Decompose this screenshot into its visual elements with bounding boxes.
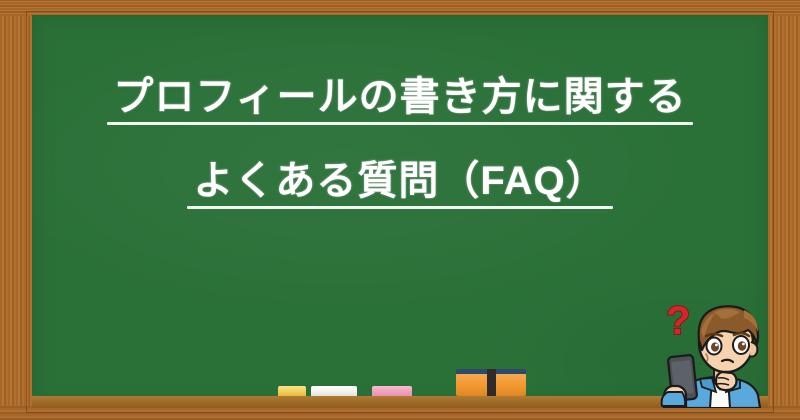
title-line-1-row: プロフィールの書き方に関する [32, 77, 768, 129]
yellow-chalk-icon [278, 386, 306, 396]
frame-top-wood-grain [0, 0, 800, 16]
title-line-2-text: よくある質問（FAQ） [193, 159, 606, 203]
chalkboard-surface: プロフィールの書き方に関する よくある質問（FAQ） ? [32, 15, 768, 408]
pink-chalk-icon [372, 386, 412, 396]
title-line-1-underline: プロフィールの書き方に関する [107, 77, 692, 129]
title-line-2-row: よくある質問（FAQ） [32, 129, 768, 213]
white-chalk-icon [311, 386, 357, 396]
svg-text:?: ? [666, 299, 690, 343]
frame-bottom-wood-grain [0, 406, 800, 420]
title-line-2-underline: よくある質問（FAQ） [187, 161, 612, 213]
page-title: プロフィールの書き方に関する よくある質問（FAQ） [32, 77, 768, 213]
blackboard-eraser-icon [456, 369, 526, 396]
confused-boy-with-smartphone-icon: ? [644, 288, 768, 408]
eraser-center-band [487, 369, 496, 396]
title-line-1-text: プロフィールの書き方に関する [113, 75, 686, 119]
blackboard-frame: プロフィールの書き方に関する よくある質問（FAQ） ? [0, 0, 800, 420]
question-mark-icon: ? [666, 299, 690, 343]
